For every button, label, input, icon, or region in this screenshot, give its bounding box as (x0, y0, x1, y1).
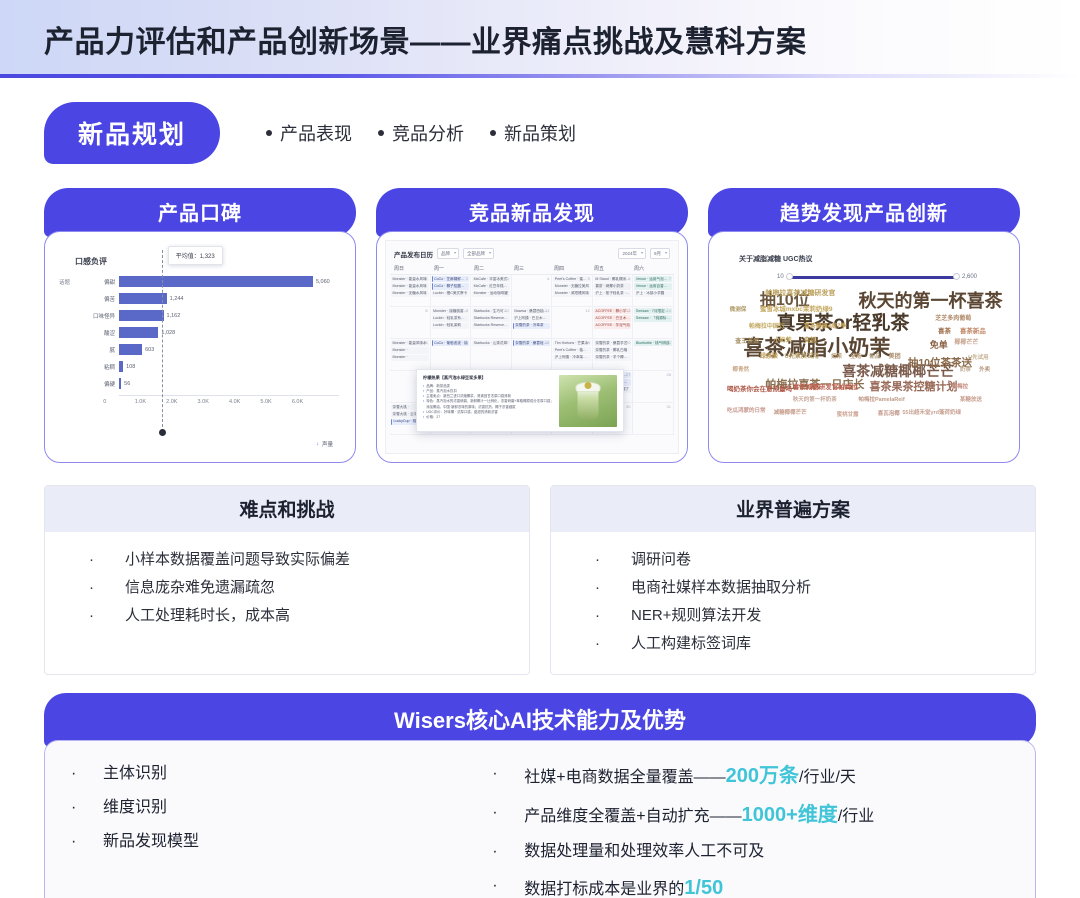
wisers-section: Wisers核心AI技术能力及优势 ·主体识别·维度识别·新品发现模型 ·社媒+… (0, 675, 1080, 898)
subnav-item-0[interactable]: 产品表现 (266, 120, 352, 146)
panel-industry-solutions: 业界普遍方案 ·调研问卷·电商社媒样本数据抽取分析·NER+规则算法开发·人工构… (550, 485, 1036, 675)
calendar-day-number: 19 (585, 340, 589, 345)
subnav-item-label: 产品表现 (280, 120, 352, 146)
word-cloud-term[interactable]: 喜茶减糖研发官帕梅拉 (793, 385, 858, 392)
calendar-day-number: 14 (667, 308, 671, 313)
calendar-day-number: 3 (506, 276, 508, 281)
bullet-icon: · (89, 607, 125, 625)
calendar-event[interactable]: Starbucks Reserve · 桃 (472, 315, 510, 321)
list-item-label: 数据打标成本是业界的1/50 (524, 876, 723, 898)
card-body: 口感负评 话题 偏甜5,060偏苦1,244口味怪异1,162酸涩1,028腻6… (44, 231, 356, 463)
word-cloud-term[interactable]: 椰椰芒芒 (954, 340, 978, 346)
bar-track: 603 (119, 341, 339, 358)
card-title: 竞品新品发现 (376, 188, 688, 237)
calendar-event[interactable]: Starbucks Reserve · 莓 (472, 323, 510, 329)
advantage-text: 数据处理量和处理效率人工不可及 (524, 843, 764, 860)
calendar-event[interactable]: Peet's Coffee · 蜜桃乌龙 (553, 276, 591, 282)
advantage-highlight: 200万条 (726, 765, 799, 787)
bar-chart: 口感负评 话题 偏甜5,060偏苦1,244口味怪异1,162酸涩1,028腻6… (53, 240, 347, 454)
wisers-capability-list: ·主体识别·维度识别·新品发现模型 (45, 757, 466, 859)
list-item: ·社媒+电商数据全量覆盖——200万条/行业/天 (466, 757, 1035, 796)
bar-track: 108 (119, 358, 339, 375)
list-item-label: 人工构建标签词库 (631, 635, 751, 653)
list-item-label: 信息庞杂难免遗漏疏忽 (125, 579, 275, 597)
list-item: ·调研问卷 (551, 546, 1035, 574)
calendar-day-cell[interactable]: 3McCafe · 丰富冰美式McCafe · 红豆年糕拿铁Monster · … (471, 275, 512, 307)
calendar-day-cell[interactable]: 19Tim Hortons · 芒果冰Peet's Coffee · 柚见乌龙沪… (552, 339, 593, 371)
advantage-suffix: /行业/天 (799, 769, 856, 786)
legend-swatch-icon: ↓ (316, 441, 319, 447)
bullet-icon: · (492, 803, 524, 828)
calendar-day-cell[interactable]: 20奈雪的茶 · 桑葚芋艺奈雪的茶 · 椰乳白葡奈雪的茶 · 芋个椰葡桃 (593, 339, 634, 371)
advantage-text: 产品维度全覆盖+自动扩充—— (524, 808, 741, 825)
industry-solutions-list: ·调研问卷·电商社媒样本数据抽取分析·NER+规则算法开发·人工构建标签词库 (551, 546, 1035, 658)
panel-difficulties: 难点和挑战 ·小样本数据覆盖问题导致实际偏差·信息庞杂难免遗漏疏忽·人工处理耗时… (44, 485, 530, 675)
word-cloud-term[interactable]: 奶茶 (960, 368, 971, 374)
bar-category-label: 偏甜 (79, 278, 119, 286)
calendar-event[interactable]: Venue · 运用百香果风味 (634, 283, 672, 289)
calendar-day-cell[interactable]: 31 (633, 403, 674, 435)
word-cloud-term[interactable]: 秋天的第一杯喜茶 (859, 292, 1003, 310)
calendar-event[interactable]: Luckin · 轻乳茶系列 · 桃 (432, 315, 470, 321)
calendar-event[interactable]: Monster · 咸柑橘风味 (553, 291, 591, 297)
page-title: 产品力评估和产品创新场景——业界痛点挑战及慧科方案 (44, 17, 807, 61)
bar-category-label: 酸涩 (79, 329, 119, 337)
list-item-label: 调研问卷 (631, 551, 691, 569)
calendar-year-select[interactable]: 2024年 (618, 248, 646, 259)
calendar-day-number: 20 (626, 340, 630, 345)
subnav-item-label: 新品策划 (504, 120, 576, 146)
bullet-icon: · (71, 764, 103, 784)
calendar-event[interactable]: ACOFFEE · 巴旦木拿铁 (594, 315, 632, 321)
chart-x-axis: 01.0K2.0K3.0K4.0K5.0K6.0K (119, 395, 339, 405)
advantage-text: 社媒+电商数据全量覆盖—— (524, 769, 725, 786)
popup-product-image (559, 375, 617, 427)
calendar-weekday: 周日 (392, 265, 432, 272)
calendar-weekday: 周一 (432, 265, 472, 272)
calendar-event[interactable]: ACOFFEE · 芋泥气泡 (594, 323, 632, 329)
bullet-dot-icon (266, 130, 272, 136)
calendar-day-cell[interactable]: 10Starbucks · 生巧可可拿铁Starbucks Reserve · … (471, 307, 512, 339)
x-axis-tick: 4.0K (229, 399, 260, 405)
x-axis-tick: 6.0K (292, 399, 323, 405)
x-axis-tick: 5.0K (260, 399, 291, 405)
calendar-filter-0[interactable]: 品牌 (437, 248, 459, 259)
word-cloud-term[interactable]: 帕梅拉PamelaReif (859, 398, 905, 404)
wisers-body: ·主体识别·维度识别·新品发现模型 ·社媒+电商数据全量覆盖——200万条/行业… (44, 740, 1036, 898)
calendar-event[interactable]: CoCo · 椰子桂圆鲜奶茶 (432, 283, 470, 289)
average-line (162, 250, 163, 432)
panel-body: ·调研问卷·电商社媒样本数据抽取分析·NER+规则算法开发·人工构建标签词库 (551, 532, 1035, 674)
bar-fill[interactable] (119, 344, 142, 355)
calendar-day-cell[interactable]: 1Monster · 能量水风味Monster · 能量水风味Monster ·… (390, 275, 431, 307)
calendar-day-cell[interactable]: 9Monster · 接糖桃香风味Luckin · 轻乳茶系列 · 桃Lucki… (431, 307, 472, 339)
calendar-day-number: 30 (626, 404, 630, 409)
word-cloud-term[interactable]: U先素质试用 (785, 354, 819, 360)
calendar-event[interactable]: Monster · 运动咖啡罐 (472, 291, 510, 297)
word-cloud-term[interactable]: 喜茶新品 (960, 329, 986, 336)
bullet-icon: · (595, 635, 631, 653)
calendar-day-number: 12 (585, 308, 589, 313)
cup-icon (578, 389, 599, 420)
bullet-icon: · (71, 832, 103, 852)
word-cloud-term[interactable]: 帕梅拉 (952, 385, 969, 391)
slider-handle-left[interactable] (786, 273, 793, 280)
slider-track[interactable] (790, 276, 956, 279)
calendar-day-cell[interactable]: 6M Stand · 椰乳糯米拿铁喜茶 · 烤椰小奶茶沪上 · 栀子轻乳茶 · … (593, 275, 634, 307)
word-cloud-term[interactable]: 全场 (850, 355, 861, 361)
list-item-label: 产品维度全覆盖+自动扩充——1000+维度/行业 (524, 803, 874, 828)
word-cloud-term[interactable]: 央视 (804, 338, 817, 345)
bar-category-label: 粘稠 (79, 363, 119, 371)
word-cloud-term[interactable]: 蜜雪冰城mxbc茉莉奶绿9 (760, 307, 833, 314)
calendar-event[interactable]: CoCo · 芝麻糊鲜奶茶 (432, 276, 470, 282)
calendar-day-cell[interactable]: 2CoCo · 芝麻糊鲜奶茶CoCo · 椰子桂圆鲜奶茶Luckin · 橙C美… (431, 275, 472, 307)
bullet-icon: · (595, 579, 631, 597)
card-title: 产品口碑 (44, 188, 356, 237)
list-item-label: 数据处理量和处理效率人工不可及 (524, 842, 764, 862)
calendar-event[interactable]: McCafe · 红豆年糕拿铁 (472, 283, 510, 289)
popup-detail-line: ▪特色：蒸汽泡水的浓香研磨，新鲜椰汁一比例化，浓香研磨+萃取椰原成分浓厚口感；添… (423, 399, 554, 410)
popup-lines: ▪品牌：新茶品类▪产品：蒸汽泡水饮扣▪主推卖点：新西兰进口浓缩椰浆，清爽回甘浓厚… (423, 384, 554, 421)
calendar-event[interactable]: Monster · 无糖拉美风 (553, 283, 591, 289)
chart-y-axis-label: 话题 (59, 280, 73, 287)
word-cloud-term[interactable]: 喝奶茶你会在意热量吗 (727, 387, 792, 394)
calendar-day-cell[interactable]: 14Seesaw · 7月限定桃桃茶Seesaw · 「桃源标」系列 (633, 307, 674, 339)
panel-title: 业界普遍方案 (551, 486, 1035, 532)
word-cloud-term[interactable]: 喜瓦泡椰 (878, 412, 900, 418)
word-cloud-range-slider[interactable]: 10 2,600 (777, 274, 977, 280)
word-cloud-term[interactable]: 新品 (869, 355, 880, 361)
subnav-item-2[interactable]: 新品策划 (490, 120, 576, 146)
bar-row: 粘稠108 (79, 358, 339, 375)
bullet-icon: · (595, 551, 631, 569)
wisers-title: Wisers核心AI技术能力及优势 (44, 693, 1036, 747)
calendar-day-cell[interactable]: 28 (633, 371, 674, 403)
word-cloud-term[interactable]: U先试用 (968, 356, 988, 362)
bar-chart-bars: 偏甜5,060偏苦1,244口味怪异1,162酸涩1,028腻603粘稠108偏… (79, 273, 339, 392)
advantage-text: 数据打标成本是业界的 (524, 881, 684, 898)
bullet-icon: · (492, 764, 524, 789)
calendar-day-number: 31 (667, 404, 671, 409)
list-item: ·主体识别 (45, 757, 466, 791)
advantage-highlight: 1/50 (684, 877, 723, 898)
chart-legend: ↓ 声量 (316, 440, 333, 448)
word-cloud-term[interactable]: 小奶茉 (774, 338, 792, 344)
card-body: 关于减脂减糖 UGC热议 10 2,600 秋天的第一杯喜茶抽10位真果茶or轻… (708, 231, 1020, 463)
bullet-dot-icon (490, 130, 496, 136)
bar-value-label: 5,060 (316, 279, 330, 285)
bar-row: 偏甜5,060 (79, 273, 339, 290)
calendar-weekday-header: 周日周一周二周三周四周五周六 (390, 263, 674, 274)
difficulties-list: ·小样本数据覆盖问题导致实际偏差·信息庞杂难免遗漏疏忽·人工处理耗时长，成本高 (45, 546, 529, 630)
bar-track: 5,060 (119, 273, 339, 290)
bar-category-label: 口味怪异 (79, 312, 119, 320)
bar-track: 1,244 (119, 290, 339, 307)
slider-max-label: 2,600 (962, 274, 977, 280)
slider-handle-right[interactable] (953, 273, 960, 280)
list-item-label: 小样本数据覆盖问题导致实际偏差 (125, 551, 350, 569)
calendar-day-number: 17 (504, 340, 508, 345)
calendar-day-cell[interactable]: 18奈雪的茶 · 桑葚轻乳茶 (512, 339, 553, 371)
list-item: ·维度识别 (45, 791, 466, 825)
calendar-event[interactable]: Peet's Coffee · 柚见乌龙 (553, 347, 591, 353)
bar-track: 1,028 (119, 324, 339, 341)
word-cloud-term[interactable]: 免单 (930, 341, 948, 350)
calendar-event[interactable]: McCafe · 丰富冰美式 (472, 276, 510, 282)
bar-value-label: 1,028 (161, 330, 175, 336)
average-tooltip: 平均值：1,323 (168, 246, 223, 265)
list-item-label: 电商社媒样本数据抽取分析 (631, 579, 811, 597)
word-cloud-term[interactable]: 帕梅拉中国行 (749, 324, 785, 330)
product-release-calendar: 产品发布日历 品牌 全部品牌 2024年 9月 周日周一周二周三周四周五周六 1… (385, 240, 679, 454)
x-axis-tick: 2.0K (166, 399, 197, 405)
bar-row: 偏硬56 (79, 375, 339, 392)
calendar-day-number: 8 (425, 308, 427, 313)
subnav-items: 产品表现 竞品分析 新品策划 (266, 120, 576, 146)
calendar-day-cell[interactable]: 4 (512, 275, 553, 307)
word-cloud-term[interactable]: 55出超禾堂yrd蓬荷奶绿 (902, 411, 961, 417)
panel-body: ·小样本数据覆盖问题导致实际偏差·信息庞杂难免遗漏疏忽·人工处理耗时长，成本高 (45, 532, 529, 646)
bar-fill[interactable] (119, 378, 121, 389)
slider-min-label: 10 (777, 274, 784, 280)
bar-row: 腻603 (79, 341, 339, 358)
calendar-event[interactable]: Luckin · 橙C美式摩卡 (432, 291, 470, 297)
calendar-event-popup: 柠檬热果【蒸汽泡水绿豆浆多果】 ▪品牌：新茶品类▪产品：蒸汽泡水饮扣▪主推卖点：… (416, 369, 624, 432)
list-item: ·数据处理量和处理效率人工不可及 (466, 835, 1035, 869)
bar-row: 口味怪异1,162 (79, 307, 339, 324)
word-cloud-term[interactable]: 美团 (889, 354, 901, 360)
calendar-day-number: 10 (504, 308, 508, 313)
calendar-event[interactable]: Monster · 能量水风味 (391, 283, 429, 289)
card-title: 趋势发现产品创新 (708, 188, 1020, 237)
calendar-day-cell[interactable]: 5Peet's Coffee · 蜜桃乌龙Monster · 无糖拉美风Mons… (552, 275, 593, 307)
popup-detail-line: ▪价格：27 (423, 415, 554, 420)
word-cloud-term[interactable]: 绿原酸 (760, 354, 778, 360)
calendar-day-number: 13 (626, 308, 630, 313)
x-axis-tick: 3.0K (198, 399, 229, 405)
calendar-event[interactable]: Luckin · 轻乳茉莉 (432, 323, 470, 329)
calendar-weekday: 周四 (552, 265, 592, 272)
calendar-day-number: 9 (466, 308, 468, 313)
challenges-solutions-row: 难点和挑战 ·小样本数据覆盖问题导致实际偏差·信息庞杂难免遗漏疏忽·人工处理耗时… (0, 463, 1080, 675)
bullet-icon: · (492, 842, 524, 862)
advantage-suffix: /行业 (838, 808, 874, 825)
calendar-event[interactable]: Monster · (391, 355, 429, 361)
word-cloud-canvas: 秋天的第一杯喜茶抽10位真果茶or轻乳茶喜茶减脂小奶茉喜茶减糖椰椰芒芒喜茶果茶控… (727, 286, 1001, 436)
calendar-day-number: 21 (667, 340, 671, 345)
bar-category-label: 腻 (79, 346, 119, 354)
square-bullet-icon: ▪ (423, 399, 424, 410)
word-cloud-term[interactable]: 椰青然 (732, 368, 749, 374)
card-body: 产品发布日历 品牌 全部品牌 2024年 9月 周日周一周二周三周四周五周六 1… (376, 231, 688, 463)
calendar-event[interactable]: 奈雪的茶 · 芋个椰葡桃 (594, 355, 632, 361)
bar-fill[interactable] (119, 293, 167, 304)
list-item: ·数据打标成本是业界的1/50 (466, 869, 1035, 898)
calendar-event[interactable]: 奈雪的茶 · 冷萃茶 (513, 323, 551, 329)
calendar-day-cell[interactable]: 21Bluebottle · 桃气明目 (633, 339, 674, 371)
list-item: ·NER+规则算法开发 (551, 602, 1035, 630)
word-cloud-term[interactable]: 奶茉 (831, 355, 842, 361)
list-item-label: 人工处理耗时长，成本高 (125, 607, 290, 625)
calendar-day-number: 18 (545, 340, 549, 345)
bar-value-label: 56 (124, 381, 130, 387)
calendar-day-cell[interactable]: 15Monster · 能量风味水Monster ·Monster · (390, 339, 431, 371)
bar-track: 1,162 (119, 307, 339, 324)
bar-value-label: 1,244 (170, 296, 184, 302)
bar-value-label: 108 (126, 364, 135, 370)
word-cloud-term[interactable]: 喜茶 (938, 329, 951, 336)
calendar-event[interactable]: Seesaw · 「桃源标」系列 (634, 315, 672, 321)
word-cloud-term[interactable]: 芝芝多肉葡萄 (935, 316, 971, 322)
bar-value-label: 603 (145, 347, 154, 353)
calendar-day-number: 6 (628, 276, 630, 281)
word-cloud-term[interactable]: 秋天的第一杯奶茶 (793, 398, 837, 404)
word-cloud-term[interactable]: 蜜桃甘露 (837, 413, 859, 419)
advantage-highlight: 1000+维度 (742, 804, 838, 826)
cup-topping-icon (585, 382, 592, 389)
bullet-dot-icon (378, 130, 384, 136)
subnav: 新品规划 产品表现 竞品分析 新品策划 (44, 102, 1080, 164)
calendar-month-select[interactable]: 9月 (650, 248, 670, 259)
wisers-left-column: ·主体识别·维度识别·新品发现模型 (45, 757, 466, 898)
list-item: ·新品发现模型 (45, 825, 466, 859)
wisers-right-column: ·社媒+电商数据全量覆盖——200万条/行业/天·产品维度全覆盖+自动扩充——1… (466, 757, 1035, 898)
calendar-event[interactable]: 奈雪的茶 · 椰乳白葡 (594, 347, 632, 353)
calendar-weekday: 周六 (632, 265, 672, 272)
calendar-day-cell[interactable]: 7Venue · 运用气泡葡萄式Venue · 运用百香果风味沪上 · 冰镇小芋… (633, 275, 674, 307)
word-cloud-term[interactable]: 吃瓜鸿蒙的日常 (727, 409, 766, 415)
word-cloud-term[interactable]: 微测保 (730, 308, 747, 314)
calendar-day-cell[interactable]: 16CoCo · 葡萄波波 · 桃 (431, 339, 472, 371)
bullet-icon: · (595, 607, 631, 625)
chart-legend-label: 声量 (322, 440, 333, 448)
calendar-weekday: 周二 (472, 265, 512, 272)
calendar-weekday: 周三 (512, 265, 552, 272)
list-item-label: NER+规则算法开发 (631, 607, 761, 625)
bullet-icon: · (89, 579, 125, 597)
panel-title: 难点和挑战 (45, 486, 529, 532)
word-cloud-term[interactable]: 喜茶健康4周7季 (804, 324, 847, 330)
popup-detail-text: 特色：蒸汽泡水的浓香研磨，新鲜椰汁一比例化，浓香研磨+萃取椰原成分浓厚口感；添加… (426, 399, 554, 410)
calendar-toolbar-right: 2024年 9月 (618, 248, 670, 259)
bullet-icon: · (89, 551, 125, 569)
calendar-toolbar: 产品发布日历 品牌 全部品牌 2024年 9月 (390, 246, 674, 263)
calendar-day-number: 15 (423, 340, 427, 345)
calendar-event[interactable]: Monster · 无糖水风味 (391, 291, 429, 297)
bar-fill[interactable] (119, 276, 313, 287)
calendar-day-cell[interactable]: 17Starbucks · 山茶花萃 (471, 339, 512, 371)
bar-fill[interactable] (119, 327, 158, 338)
bar-row: 偏苦1,244 (79, 290, 339, 307)
calendar-day-number: 27 (626, 372, 630, 377)
bar-row: 酸涩1,028 (79, 324, 339, 341)
calendar-day-number: 28 (667, 372, 671, 377)
calendar-day-number: 7 (669, 276, 671, 281)
calendar-event[interactable]: Monster · (391, 347, 429, 353)
word-cloud-term[interactable]: 减糖椰椰芒芒 (774, 411, 807, 417)
list-item: ·人工构建标签词库 (551, 630, 1035, 658)
calendar-event[interactable]: 沪上阿姨 · 巴旦木瑞纳冰 (513, 315, 551, 321)
calendar-event[interactable]: M Stand · 椰乳糯米拿铁 (594, 276, 632, 282)
wisers-advantage-list: ·社媒+电商数据全量覆盖——200万条/行业/天·产品维度全覆盖+自动扩充——1… (466, 757, 1035, 898)
word-cloud-title: 关于减脂减糖 UGC热议 (739, 254, 1001, 264)
popup-text: 柠檬热果【蒸汽泡水绿豆浆多果】 ▪品牌：新茶品类▪产品：蒸汽泡水饮扣▪主推卖点：… (423, 375, 554, 426)
card-trend-innovation: 趋势发现产品创新 关于减脂减糖 UGC热议 10 2,600 秋天的第一杯喜茶抽… (708, 188, 1020, 463)
list-item: ·人工处理耗时长，成本高 (45, 602, 529, 630)
calendar-day-number: 16 (464, 340, 468, 345)
bar-fill[interactable] (119, 361, 123, 372)
calendar-day-cell[interactable]: 12 (552, 307, 593, 339)
calendar-day-number: 5 (588, 276, 590, 281)
page-header: 产品力评估和产品创新场景——业界痛点挑战及慧科方案 (0, 0, 1080, 78)
square-bullet-icon: ▪ (423, 415, 424, 420)
calendar-event[interactable]: 沪上 · 冰镇小芋圆 (634, 291, 672, 297)
card-product-reputation: 产品口碑 口感负评 话题 偏甜5,060偏苦1,244口味怪异1,162酸涩1,… (44, 188, 356, 463)
list-item-label: 社媒+电商数据全量覆盖——200万条/行业/天 (524, 764, 856, 789)
calendar-event[interactable]: 沪上 · 栀子轻乳茶 · 橘小椰 (594, 291, 632, 297)
list-item-label: 主体识别 (103, 764, 167, 784)
calendar-day-cell[interactable]: 11Nowwa · 桑葚西柚气泡沪上阿姨 · 巴旦木瑞纳冰奈雪的茶 · 冷萃茶 (512, 307, 553, 339)
calendar-day-number: 4 (547, 276, 549, 281)
calendar-event[interactable]: Monster · 接糖桃香风味 (432, 308, 470, 314)
list-item: ·产品维度全覆盖+自动扩充——1000+维度/行业 (466, 796, 1035, 835)
word-cloud-term[interactable]: 查王茶姬 (735, 339, 759, 345)
calendar-filter-1[interactable]: 全部品牌 (463, 248, 494, 259)
popup-detail-text: 价格：27 (426, 415, 440, 420)
list-item-label: 维度识别 (103, 798, 167, 818)
calendar-title: 产品发布日历 (394, 249, 433, 259)
word-cloud-term[interactable]: 帕梅拉喜茶减糖研发官 (765, 290, 835, 297)
list-item: ·小样本数据覆盖问题导致实际偏差 (45, 546, 529, 574)
calendar-event[interactable]: 沪上阿姨 · 冷萃茉莉奶 (553, 355, 591, 361)
calendar-day-number: 1 (425, 276, 427, 281)
popup-title: 柠檬热果【蒸汽泡水绿豆浆多果】 (423, 375, 554, 381)
calendar-day-cell[interactable]: 13ACOFFEE · 椰小芋鲜拿ACOFFEE · 巴旦木拿铁ACOFFEE … (593, 307, 634, 339)
bar-track: 56 (119, 375, 339, 392)
calendar-day-number: 11 (545, 308, 549, 313)
list-item-label: 新品发现模型 (103, 832, 199, 852)
feature-cards-row: 产品口碑 口感负评 话题 偏甜5,060偏苦1,244口味怪异1,162酸涩1,… (0, 164, 1080, 463)
word-cloud-term[interactable]: 喜茶果茶控糖计划 (869, 382, 957, 393)
list-item: ·信息庞杂难免遗漏疏忽 (45, 574, 529, 602)
calendar-event[interactable]: 喜茶 · 烤椰小奶茶 (594, 283, 632, 289)
x-axis-tick: 0 (103, 399, 134, 405)
calendar-event[interactable]: Monster · 能量水风味 (391, 276, 429, 282)
bullet-icon: · (71, 798, 103, 818)
calendar-event[interactable]: Venue · 运用气泡葡萄式 (634, 276, 672, 282)
card-competitor-discovery: 竞品新品发现 产品发布日历 品牌 全部品牌 2024年 9月 周日周一周二周三周… (376, 188, 688, 463)
bar-fill[interactable] (119, 310, 164, 321)
subnav-item-1[interactable]: 竞品分析 (378, 120, 464, 146)
bar-value-label: 1,162 (167, 313, 181, 319)
bar-category-label: 偏苦 (79, 295, 119, 303)
list-item: ·电商社媒样本数据抽取分析 (551, 574, 1035, 602)
word-cloud-panel: 关于减脂减糖 UGC热议 10 2,600 秋天的第一杯喜茶抽10位真果茶or轻… (717, 240, 1011, 454)
calendar-day-cell[interactable]: 8 (390, 307, 431, 339)
bullet-icon: · (492, 876, 524, 898)
bar-category-label: 偏硬 (79, 380, 119, 388)
word-cloud-term[interactable]: 外卖 (979, 368, 990, 374)
subnav-item-label: 竞品分析 (392, 120, 464, 146)
calendar-weekday: 周五 (592, 265, 632, 272)
word-cloud-term[interactable]: 某糖放送 (960, 398, 982, 404)
calendar-day-number: 2 (466, 276, 468, 281)
subnav-pill-新品规划[interactable]: 新品规划 (44, 102, 220, 164)
